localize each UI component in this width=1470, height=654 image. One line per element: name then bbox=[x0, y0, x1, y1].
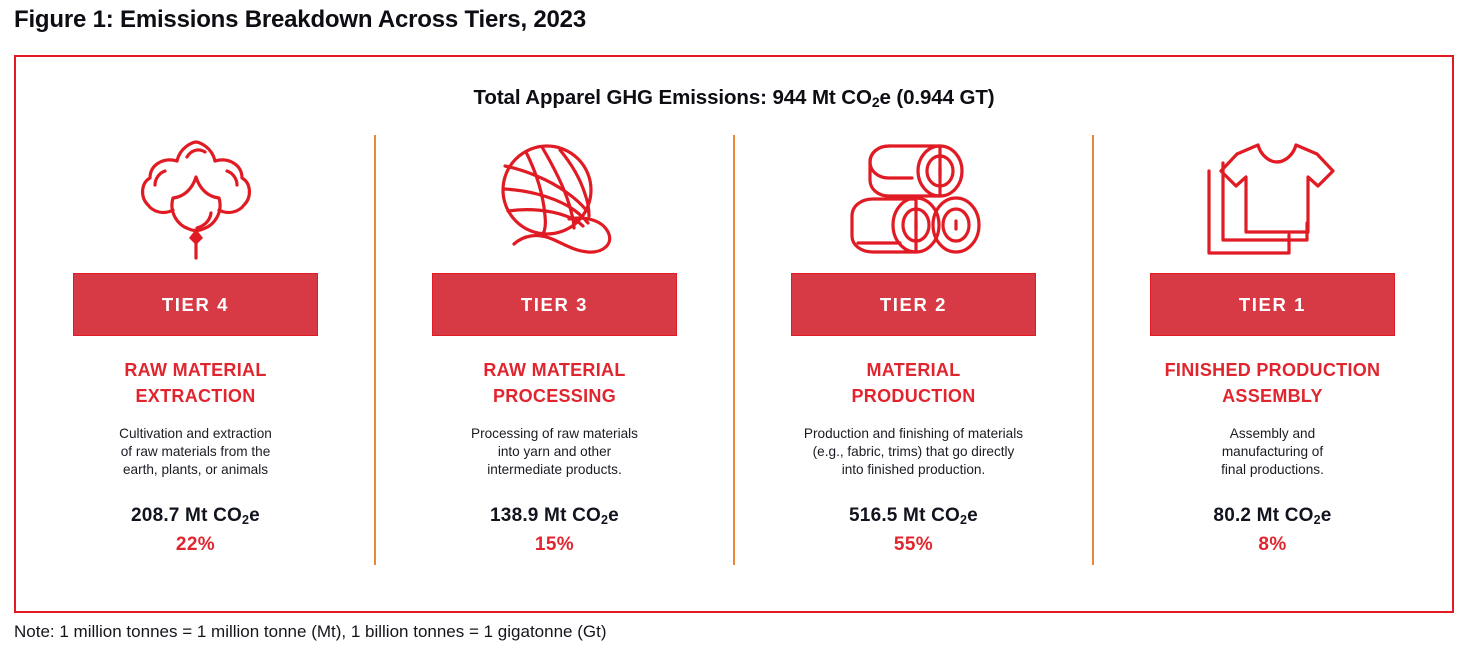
stage-description-4-line2: of raw materials from the bbox=[119, 443, 272, 461]
emissions-breakdown-figure: Figure 1: Emissions Breakdown Across Tie… bbox=[0, 0, 1470, 654]
stage-description-3-line3: intermediate products. bbox=[471, 461, 638, 479]
stage-description-2-line1: Production and finishing of materials bbox=[804, 425, 1023, 443]
tier-columns: TIER 4 RAW MATERIAL EXTRACTION Cultivati… bbox=[16, 129, 1452, 615]
tshirt-icon bbox=[1203, 129, 1343, 269]
tier-badge-3: TIER 3 bbox=[432, 273, 677, 336]
tier-badge-2: TIER 2 bbox=[791, 273, 1036, 336]
stage-percent-3: 15% bbox=[535, 534, 574, 556]
tier-column-3: TIER 3 RAW MATERIAL PROCESSING Processin… bbox=[375, 129, 734, 615]
stage-name-3-line1: RAW MATERIAL bbox=[483, 358, 625, 384]
tier-badge-label-2: TIER 2 bbox=[880, 294, 947, 316]
stage-name-2: MATERIAL PRODUCTION bbox=[852, 358, 976, 409]
tier-badge-label-1: TIER 1 bbox=[1239, 294, 1306, 316]
stage-name-2-line2: PRODUCTION bbox=[852, 384, 976, 410]
stage-description-1-line3: final productions. bbox=[1221, 461, 1324, 479]
stage-name-1: FINISHED PRODUCTION ASSEMBLY bbox=[1165, 358, 1381, 409]
stage-value-2: 516.5 Mt CO2e bbox=[849, 505, 978, 527]
stage-value-2-prefix: 516.5 Mt CO bbox=[849, 505, 960, 526]
stage-name-2-line1: MATERIAL bbox=[852, 358, 976, 384]
total-emissions-heading-suffix: e (0.944 GT) bbox=[879, 86, 994, 109]
stage-description-1-line1: Assembly and bbox=[1221, 425, 1324, 443]
cotton-boll-icon bbox=[137, 129, 255, 269]
stage-value-3: 138.9 Mt CO2e bbox=[490, 505, 619, 527]
figure-note: Note: 1 million tonnes = 1 million tonne… bbox=[14, 622, 607, 642]
total-emissions-heading: Total Apparel GHG Emissions: 944 Mt CO2e… bbox=[16, 86, 1452, 110]
stage-percent-1: 8% bbox=[1258, 534, 1286, 556]
stage-name-4-line1: RAW MATERIAL bbox=[124, 358, 266, 384]
yarn-ball-icon bbox=[490, 129, 620, 269]
stage-value-1-suffix: e bbox=[1321, 505, 1332, 526]
stage-value-4-suffix: e bbox=[249, 505, 260, 526]
stage-value-4: 208.7 Mt CO2e bbox=[131, 505, 260, 527]
stage-value-1: 80.2 Mt CO2e bbox=[1213, 505, 1331, 527]
stage-description-2-line3: into finished production. bbox=[804, 461, 1023, 479]
page-title: Figure 1: Emissions Breakdown Across Tie… bbox=[14, 6, 586, 34]
stage-description-2-line2: (e.g., fabric, trims) that go directly bbox=[804, 443, 1023, 461]
stage-percent-2: 55% bbox=[894, 534, 933, 556]
tier-badge-label-4: TIER 4 bbox=[162, 294, 229, 316]
tier-column-1: TIER 1 FINISHED PRODUCTION ASSEMBLY Asse… bbox=[1093, 129, 1452, 615]
stage-value-3-suffix: e bbox=[608, 505, 619, 526]
stage-description-3-line1: Processing of raw materials bbox=[471, 425, 638, 443]
tier-badge-label-3: TIER 3 bbox=[521, 294, 588, 316]
stage-percent-4: 22% bbox=[176, 534, 215, 556]
tier-badge-1: TIER 1 bbox=[1150, 273, 1395, 336]
stage-name-4: RAW MATERIAL EXTRACTION bbox=[124, 358, 266, 409]
stage-description-3-line2: into yarn and other bbox=[471, 443, 638, 461]
stage-name-1-line1: FINISHED PRODUCTION bbox=[1165, 358, 1381, 384]
stage-name-4-line2: EXTRACTION bbox=[124, 384, 266, 410]
stage-description-4-line1: Cultivation and extraction bbox=[119, 425, 272, 443]
figure-panel: Total Apparel GHG Emissions: 944 Mt CO2e… bbox=[14, 55, 1454, 613]
stage-name-3: RAW MATERIAL PROCESSING bbox=[483, 358, 625, 409]
stage-description-4: Cultivation and extraction of raw materi… bbox=[119, 425, 272, 479]
stage-name-1-line2: ASSEMBLY bbox=[1165, 384, 1381, 410]
fabric-rolls-icon bbox=[844, 129, 984, 269]
stage-description-3: Processing of raw materials into yarn an… bbox=[471, 425, 638, 479]
stage-description-1-line2: manufacturing of bbox=[1221, 443, 1324, 461]
stage-name-3-line2: PROCESSING bbox=[483, 384, 625, 410]
stage-description-2: Production and finishing of materials (e… bbox=[804, 425, 1023, 479]
tier-badge-4: TIER 4 bbox=[73, 273, 318, 336]
stage-description-1: Assembly and manufacturing of final prod… bbox=[1221, 425, 1324, 479]
total-emissions-heading-prefix: Total Apparel GHG Emissions: 944 Mt CO bbox=[474, 86, 872, 109]
stage-description-4-line3: earth, plants, or animals bbox=[119, 461, 272, 479]
tier-column-4: TIER 4 RAW MATERIAL EXTRACTION Cultivati… bbox=[16, 129, 375, 615]
stage-value-1-subscript: 2 bbox=[1314, 513, 1321, 527]
stage-value-3-prefix: 138.9 Mt CO bbox=[490, 505, 601, 526]
tier-column-2: TIER 2 MATERIAL PRODUCTION Production an… bbox=[734, 129, 1093, 615]
stage-value-2-suffix: e bbox=[967, 505, 978, 526]
stage-value-1-prefix: 80.2 Mt CO bbox=[1213, 505, 1313, 526]
stage-value-4-prefix: 208.7 Mt CO bbox=[131, 505, 242, 526]
